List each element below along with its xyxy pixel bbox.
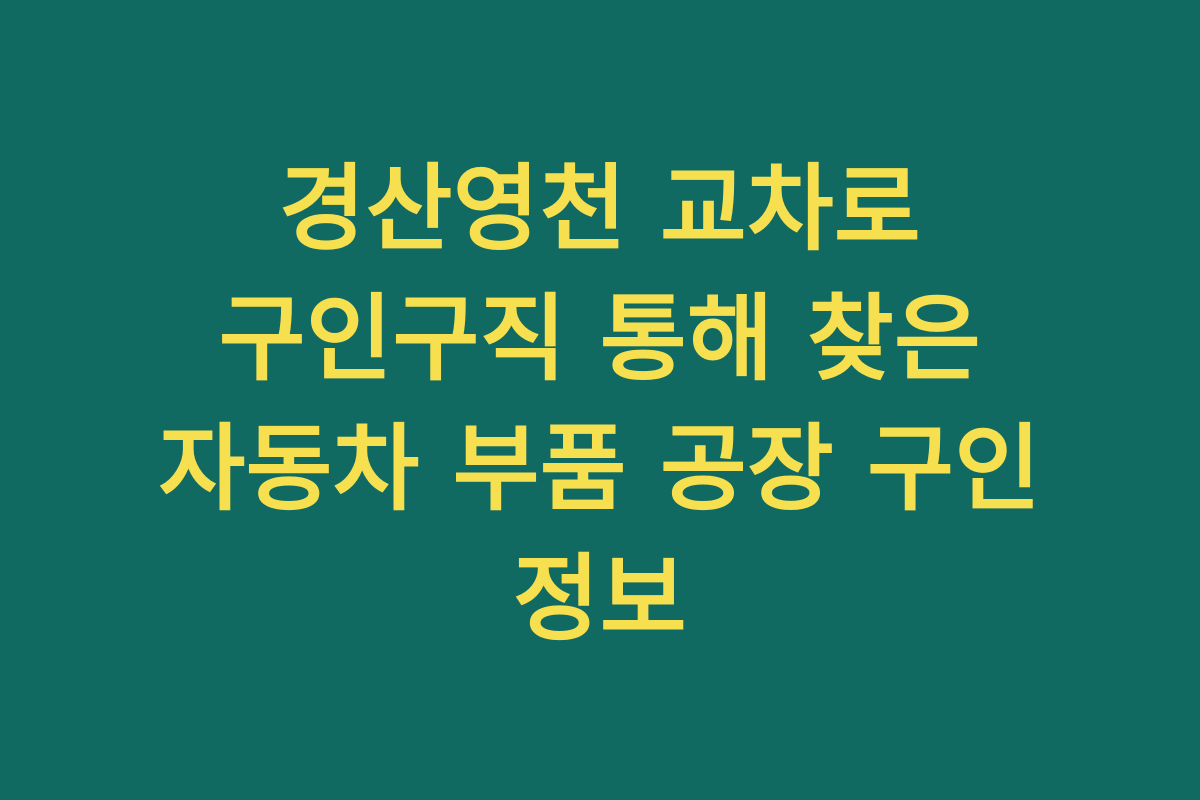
headline-container: 경산영천 교차로 구인구직 통해 찾은 자동차 부품 공장 구인 정보 <box>95 145 1105 665</box>
page-title: 경산영천 교차로 구인구직 통해 찾은 자동차 부품 공장 구인 정보 <box>95 145 1105 665</box>
banner-canvas: 경산영천 교차로 구인구직 통해 찾은 자동차 부품 공장 구인 정보 <box>0 0 1200 800</box>
